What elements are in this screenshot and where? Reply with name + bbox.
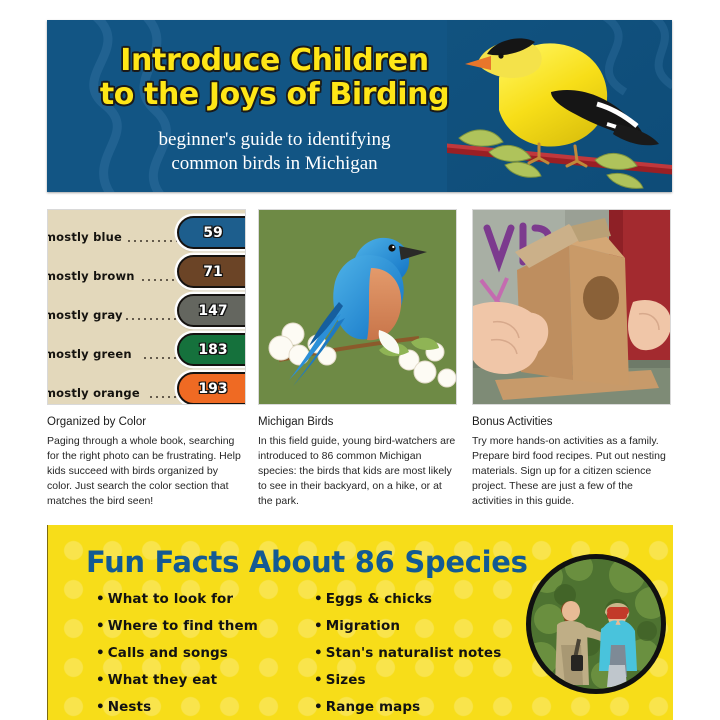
card-title: Organized by Color: [47, 415, 246, 429]
feature-card-bonus-activities: Bonus Activities Try more hands-on activ…: [472, 209, 671, 509]
bluebird-image: [258, 209, 457, 405]
chart-row-value: 183: [198, 342, 227, 358]
leader-dots: [124, 318, 186, 320]
hero-title-line-1: Introduce Children: [47, 44, 502, 78]
list-item-label: Stan's naturalist notes: [326, 645, 502, 661]
bullet-icon: •: [314, 645, 323, 661]
fun-facts-column-left: •What to look for •Where to find them •C…: [96, 591, 291, 720]
bullet-icon: •: [96, 618, 105, 634]
bullet-icon: •: [96, 672, 105, 688]
bullet-icon: •: [96, 699, 105, 715]
chart-row: mostly blue 59: [48, 214, 246, 253]
chart-row-pill: 183: [177, 333, 246, 366]
list-item-label: Calls and songs: [108, 645, 228, 661]
card-title: Michigan Birds: [258, 415, 457, 429]
list-item: •Stan's naturalist notes: [314, 645, 564, 661]
color-index-chart: mostly blue 59 mostly brown 71: [48, 210, 245, 404]
chart-row-label: mostly brown: [47, 269, 135, 283]
list-item: •What they eat: [96, 672, 291, 688]
chart-row: mostly brown 71: [48, 253, 246, 292]
hero-title-line-2: to the Joys of Birding: [47, 78, 502, 112]
birdhouse-image: [472, 209, 671, 405]
chart-row-value: 193: [198, 381, 227, 397]
fun-facts-title: Fun Facts About 86 Species: [86, 545, 528, 579]
chart-row-pill: 71: [177, 255, 246, 288]
list-item-label: Migration: [326, 618, 400, 634]
list-item-label: Nests: [108, 699, 151, 715]
hero-text-block: Introduce Children to the Joys of Birdin…: [47, 20, 502, 192]
chart-row-label: mostly blue: [47, 230, 122, 244]
chart-row: mostly gray 147: [48, 292, 246, 331]
chart-row-pill: 147: [177, 294, 246, 327]
bullet-icon: •: [314, 699, 323, 715]
list-item: •Nests: [96, 699, 291, 715]
feature-card-michigan-birds: Michigan Birds In this field guide, youn…: [258, 209, 457, 509]
bullet-icon: •: [314, 672, 323, 688]
list-item-label: Where to find them: [108, 618, 258, 634]
hero-banner: Introduce Children to the Joys of Birdin…: [47, 20, 672, 192]
list-item-label: What to look for: [108, 591, 233, 607]
birdwatchers-photo: [526, 554, 666, 694]
leader-dots: [126, 240, 186, 242]
birdhouse-assembly-photo: [473, 210, 670, 404]
chart-row-label: mostly gray: [47, 308, 123, 322]
chart-row-value: 147: [198, 303, 227, 319]
bullet-icon: •: [96, 645, 105, 661]
card-body: Paging through a whole book, searching f…: [47, 434, 246, 509]
chart-row: mostly orange 193: [48, 370, 246, 405]
chart-row-value: 71: [203, 264, 222, 280]
chart-row-pill: 59: [177, 216, 246, 249]
card-title: Bonus Activities: [472, 415, 671, 429]
list-item: •Eggs & chicks: [314, 591, 564, 607]
feature-card-organized-by-color: mostly blue 59 mostly brown 71: [47, 209, 246, 509]
list-item-label: Sizes: [326, 672, 366, 688]
chart-row-pill: 193: [177, 372, 246, 405]
hero-subtitle-line-1: beginner's guide to identifying: [47, 128, 502, 152]
card-body: Try more hands-on activities as a family…: [472, 434, 671, 509]
bullet-icon: •: [96, 591, 105, 607]
chart-row: mostly green 183: [48, 331, 246, 370]
bullet-icon: •: [314, 618, 323, 634]
list-item: •Where to find them: [96, 618, 291, 634]
hero-subtitle: beginner's guide to identifying common b…: [47, 128, 502, 176]
list-item-label: What they eat: [108, 672, 218, 688]
fun-facts-panel: Fun Facts About 86 Species •What to look…: [47, 525, 673, 720]
list-item: •What to look for: [96, 591, 291, 607]
card-body: In this field guide, young bird-watchers…: [258, 434, 457, 509]
eastern-bluebird-illustration: [259, 210, 456, 404]
hero-subtitle-line-2: common birds in Michigan: [47, 152, 502, 176]
color-index-chart-image: mostly blue 59 mostly brown 71: [47, 209, 246, 405]
chart-row-label: mostly green: [47, 347, 132, 361]
hero-title: Introduce Children to the Joys of Birdin…: [47, 44, 502, 111]
list-item: •Range maps: [314, 699, 564, 715]
chart-row-value: 59: [203, 225, 222, 241]
list-item: •Sizes: [314, 672, 564, 688]
chart-row-label: mostly orange: [47, 386, 140, 400]
list-item-label: Eggs & chicks: [326, 591, 432, 607]
list-item: •Calls and songs: [96, 645, 291, 661]
list-item-label: Range maps: [326, 699, 421, 715]
marketing-page: Introduce Children to the Joys of Birdin…: [0, 0, 720, 720]
bullet-icon: •: [314, 591, 323, 607]
